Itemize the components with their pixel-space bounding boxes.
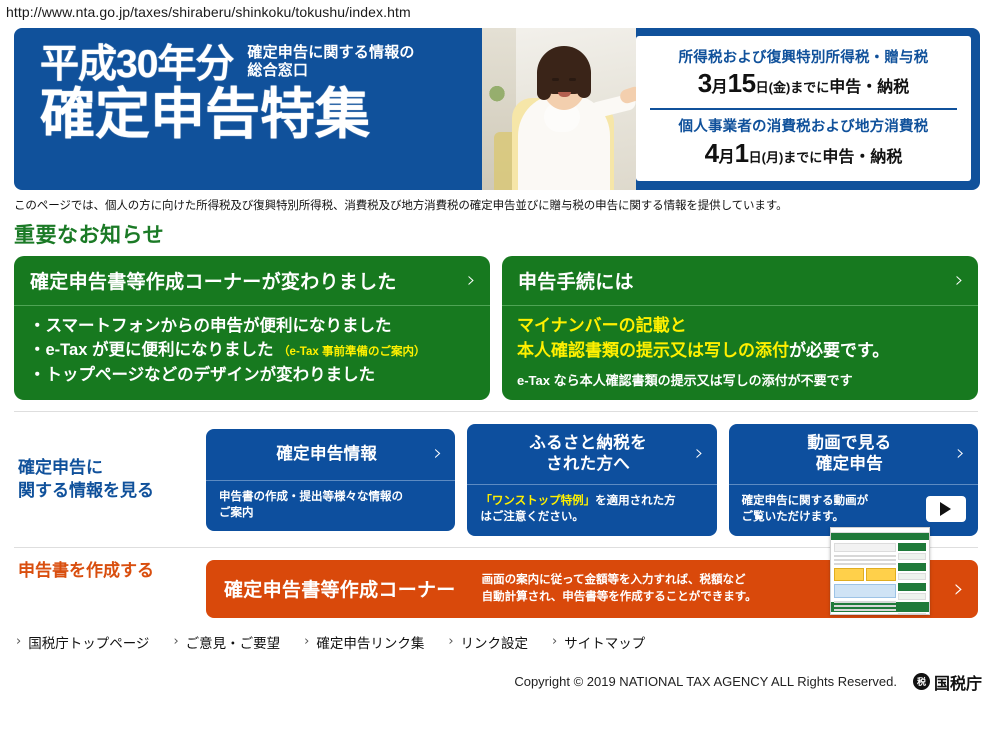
thumb-yellow-button	[866, 568, 896, 581]
create-corner-title: 確定申告書等作成コーナー	[224, 575, 482, 602]
chevron-right-icon: ›	[946, 574, 964, 604]
photo-plant	[486, 78, 508, 104]
photo-hair-right	[577, 68, 591, 98]
notice-panel-shinkoku-tetsuzuki[interactable]: 申告手続には › マイナンバーの記載と 本人確認書類の提示又は写しの添付が必要で…	[502, 256, 978, 400]
info-cards-row: 確定申告に 関する情報を見る 確定申告情報 › 申告書の作成・提出等様々な情報の…	[14, 424, 978, 535]
photo-hair-left	[537, 68, 551, 100]
hero-subtitle: 確定申告に関する情報の 総合窓口	[247, 44, 414, 84]
footer-link-feedback[interactable]: › ご意見・ご要望	[173, 632, 280, 652]
card-description: 申告書の作成・提出等様々な情報の ご案内	[219, 489, 403, 522]
deadline-day-unit: 日	[749, 150, 762, 165]
card-desc-line1: 「ワンストップ特例」を適用された方	[480, 493, 675, 509]
thumb-site-header	[831, 533, 929, 540]
footer-link-label: 確定申告リンク集	[316, 632, 424, 652]
hero-deadline-panel: 所得税および復興特別所得税・贈与税 3月15日(金)までに申告・納税 個人事業者…	[636, 36, 971, 181]
card-title: 確定申告情報	[220, 444, 434, 465]
chevron-right-icon: ›	[956, 443, 965, 465]
deadline-date: 4月1日(月)までに申告・納税	[650, 139, 957, 168]
notice-highlight-yellow: 本人確認書類の提示又は写しの添付	[517, 341, 789, 360]
chevron-right-icon: ›	[467, 270, 476, 292]
card-furusato-nozei[interactable]: ふるさと納税を された方へ › 「ワンストップ特例」を適用された方 はご注意くだ…	[467, 424, 716, 535]
card-header[interactable]: ふるさと納税を された方へ ›	[467, 424, 716, 485]
notice-bullet-text: ・トップページなどのデザインが変わりました	[29, 366, 375, 384]
chevron-right-icon: ›	[16, 634, 21, 649]
section-heading-important-notice: 重要なお知らせ	[14, 219, 978, 249]
thumb-text-line	[834, 563, 896, 565]
card-body: 「ワンストップ特例」を適用された方 はご注意ください。	[467, 485, 716, 536]
footer-link-nta-top[interactable]: › 国税庁トップページ	[16, 632, 149, 652]
deadline-heading: 個人事業者の消費税および地方消費税	[650, 119, 957, 136]
footer-link-label: リンク設定	[461, 632, 529, 652]
deadline-month-num: 3	[698, 68, 712, 98]
hero-subtitle-line2: 総合窓口	[247, 62, 414, 80]
hero-banner: 平成30年分 確定申告に関する情報の 総合窓口 確定申告特集 所得税および復興特…	[14, 28, 980, 190]
card-title-line1: ふるさと納税を	[481, 433, 695, 454]
chevron-right-icon: ›	[695, 443, 704, 465]
card-description: 「ワンストップ特例」を適用された方 はご注意ください。	[480, 493, 675, 526]
chevron-right-icon: ›	[448, 634, 453, 649]
footer-copyright-row: Copyright © 2019 NATIONAL TAX AGENCY ALL…	[0, 670, 992, 694]
thumb-main-column	[834, 543, 896, 599]
thumb-side-heading	[898, 603, 926, 611]
chevron-right-icon: ›	[955, 270, 964, 292]
card-title: 動画で見る 確定申告	[743, 433, 957, 475]
card-desc-line2: ご覧いただけます。	[742, 509, 869, 525]
chevron-right-icon: ›	[304, 634, 309, 649]
create-row-label: 申告書を作成する	[14, 560, 194, 618]
thumb-side-column	[898, 543, 926, 599]
notice-bullet-text: ・スマートフォンからの申告が便利になりました	[29, 317, 392, 335]
card-title-line2: された方へ	[481, 454, 695, 475]
deadline-date: 3月15日(金)までに申告・納税	[650, 69, 957, 98]
notice-bullet: ・トップページなどのデザインが変わりました	[29, 363, 476, 387]
notice-highlight-line2: 本人確認書類の提示又は写しの添付が必要です。	[517, 339, 964, 364]
card-title-line1: 確定申告情報	[220, 444, 434, 465]
play-icon	[940, 502, 951, 516]
thumb-side-heading	[898, 543, 926, 551]
notice-subline: e-Tax なら本人確認書類の提示又は写しの添付が不要です	[517, 370, 964, 389]
info-row-label-line2: 関する情報を見る	[18, 480, 194, 503]
photo-eye-right	[569, 78, 576, 81]
footer-link-link-settings[interactable]: › リンク設定	[448, 632, 528, 652]
deadline-consumption-tax: 個人事業者の消費税および地方消費税 4月1日(月)までに申告・納税	[650, 108, 957, 178]
deadline-action: 申告・納税	[829, 79, 909, 96]
divider-above-info-row	[14, 411, 978, 412]
notice-panel-kakutei-shinkoku-corner[interactable]: 確定申告書等作成コーナーが変わりました › ・スマートフォンからの申告が便利にな…	[14, 256, 490, 400]
hero-left: 平成30年分 確定申告に関する情報の 総合窓口 確定申告特集	[14, 28, 482, 190]
deadline-heading: 所得税および復興特別所得税・贈与税	[650, 50, 957, 67]
page-lead-text: このページでは、個人の方に向けた所得税及び復興特別所得税、消費税及び地方消費税の…	[14, 197, 978, 213]
browser-url-bar[interactable]: http://www.nta.go.jp/taxes/shiraberu/shi…	[0, 0, 992, 26]
card-title-line1: 動画で見る	[743, 433, 957, 454]
notice-title: 確定申告書等作成コーナーが変わりました	[30, 267, 397, 294]
notice-bullet-note[interactable]: （e-Tax 事前準備のご案内）	[278, 346, 425, 358]
notice-highlight-line1: マイナンバーの記載と	[517, 314, 964, 339]
deadline-month-unit: 月	[712, 79, 728, 96]
thumb-side-heading	[898, 563, 926, 571]
nta-emblem-icon: 税	[913, 673, 930, 690]
footer-links: › 国税庁トップページ › ご意見・ご要望 › 確定申告リンク集 › リンク設定…	[16, 632, 978, 652]
create-document-row: 申告書を作成する 確定申告書等作成コーナー 画面の案内に従って金額等を入力すれば…	[14, 560, 978, 618]
notice-header[interactable]: 申告手続には ›	[502, 256, 978, 306]
deadline-month-num: 4	[705, 138, 719, 168]
card-title-line2: 確定申告	[743, 454, 957, 475]
card-desc-line2: ご案内	[219, 505, 403, 521]
card-header[interactable]: 確定申告情報 ›	[206, 429, 455, 481]
play-video-button[interactable]	[926, 496, 966, 522]
notice-bullet-text: ・e-Tax が更に便利になりました	[29, 341, 273, 359]
deadline-tail: までに	[790, 80, 829, 95]
thumb-text-line	[834, 559, 896, 561]
deadline-day-num: 1	[735, 138, 749, 168]
info-row-label-line1: 確定申告に	[18, 457, 194, 480]
card-description: 確定申告に関する動画が ご覧いただけます。	[742, 493, 869, 526]
notice-body: マイナンバーの記載と 本人確認書類の提示又は写しの添付が必要です。 e-Tax …	[502, 306, 978, 400]
thumb-side-body	[898, 613, 926, 615]
thumb-text-line	[834, 609, 896, 611]
chevron-right-icon: ›	[434, 443, 443, 465]
deadline-action: 申告・納税	[822, 149, 902, 166]
card-kakutei-shinkoku-joho[interactable]: 確定申告情報 › 申告書の作成・提出等様々な情報の ご案内	[206, 429, 455, 532]
hero-year: 平成30年分	[40, 45, 233, 84]
card-desc-line2: はご注意ください。	[480, 509, 675, 525]
chevron-right-icon: ›	[173, 634, 178, 649]
create-corner-screenshot-thumbnail	[830, 527, 930, 615]
hero-photo-woman	[482, 28, 636, 190]
thumb-yellow-button	[834, 568, 864, 581]
nta-logo-name: 国税庁	[934, 670, 982, 694]
thumb-side-heading	[898, 583, 926, 591]
footer-link-label: サイトマップ	[564, 632, 645, 652]
deadline-month-unit: 月	[719, 149, 735, 166]
thumb-text-line	[834, 555, 896, 557]
deadline-income-tax: 所得税および復興特別所得税・贈与税 3月15日(金)までに申告・納税	[650, 40, 957, 108]
thumb-side-body	[898, 553, 926, 560]
create-corner-button[interactable]: 確定申告書等作成コーナー 画面の案内に従って金額等を入力すれば、税額など 自動計…	[206, 560, 978, 618]
thumb-yellow-buttons	[834, 568, 896, 581]
card-title: ふるさと納税を された方へ	[481, 433, 695, 475]
deadline-tail: までに	[783, 150, 822, 165]
footer-link-label: 国税庁トップページ	[28, 632, 149, 652]
thumb-search-box	[834, 543, 896, 552]
notice-highlight-tail: が必要です。	[789, 341, 889, 360]
footer-link-linkshu[interactable]: › 確定申告リンク集	[304, 632, 424, 652]
thumb-blue-panel	[834, 584, 896, 598]
chevron-right-icon: ›	[552, 634, 557, 649]
thumb-side-body	[898, 573, 926, 580]
hero-subtitle-line1: 確定申告に関する情報の	[247, 44, 414, 62]
deadline-day-num: 15	[728, 68, 756, 98]
thumb-content	[831, 540, 929, 602]
card-douga-de-miru[interactable]: 動画で見る 確定申告 › 確定申告に関する動画が ご覧いただけます。	[729, 424, 978, 535]
notice-body: ・スマートフォンからの申告が便利になりました ・e-Tax が更に便利になりまし…	[14, 306, 490, 398]
deadline-weekday: (月)	[762, 150, 784, 165]
card-desc-line1: 確定申告に関する動画が	[742, 493, 869, 509]
notice-panels: 確定申告書等作成コーナーが変わりました › ・スマートフォンからの申告が便利にな…	[14, 256, 978, 400]
thumb-text-line	[834, 605, 896, 607]
nta-logo: 税 国税庁	[913, 670, 982, 694]
thumb-side-body	[898, 593, 926, 600]
notice-bullet: ・e-Tax が更に便利になりました （e-Tax 事前準備のご案内）	[29, 338, 476, 362]
card-desc-highlight: 「ワンストップ特例」	[480, 495, 595, 507]
deadline-weekday: (金)	[769, 80, 791, 95]
hero-title: 確定申告特集	[40, 86, 482, 144]
notice-header[interactable]: 確定申告書等作成コーナーが変わりました ›	[14, 256, 490, 306]
footer-link-label: ご意見・ご要望	[186, 632, 281, 652]
copyright-text: Copyright © 2019 NATIONAL TAX AGENCY ALL…	[514, 674, 897, 689]
thumb-text-line	[834, 601, 896, 603]
card-header[interactable]: 動画で見る 確定申告 ›	[729, 424, 978, 485]
card-body: 申告書の作成・提出等様々な情報の ご案内	[206, 481, 455, 532]
hero-headline-row: 平成30年分 確定申告に関する情報の 総合窓口	[40, 44, 482, 84]
info-row-label: 確定申告に 関する情報を見る	[14, 457, 194, 503]
card-desc-line1: 申告書の作成・提出等様々な情報の	[219, 489, 403, 505]
photo-eye-left	[552, 78, 559, 81]
card-desc-rest: を適用された方	[595, 495, 676, 507]
notice-bullet: ・スマートフォンからの申告が便利になりました	[29, 314, 476, 338]
footer-link-sitemap[interactable]: › サイトマップ	[552, 632, 645, 652]
notice-title: 申告手続には	[518, 267, 634, 294]
deadline-day-unit: 日	[756, 80, 769, 95]
